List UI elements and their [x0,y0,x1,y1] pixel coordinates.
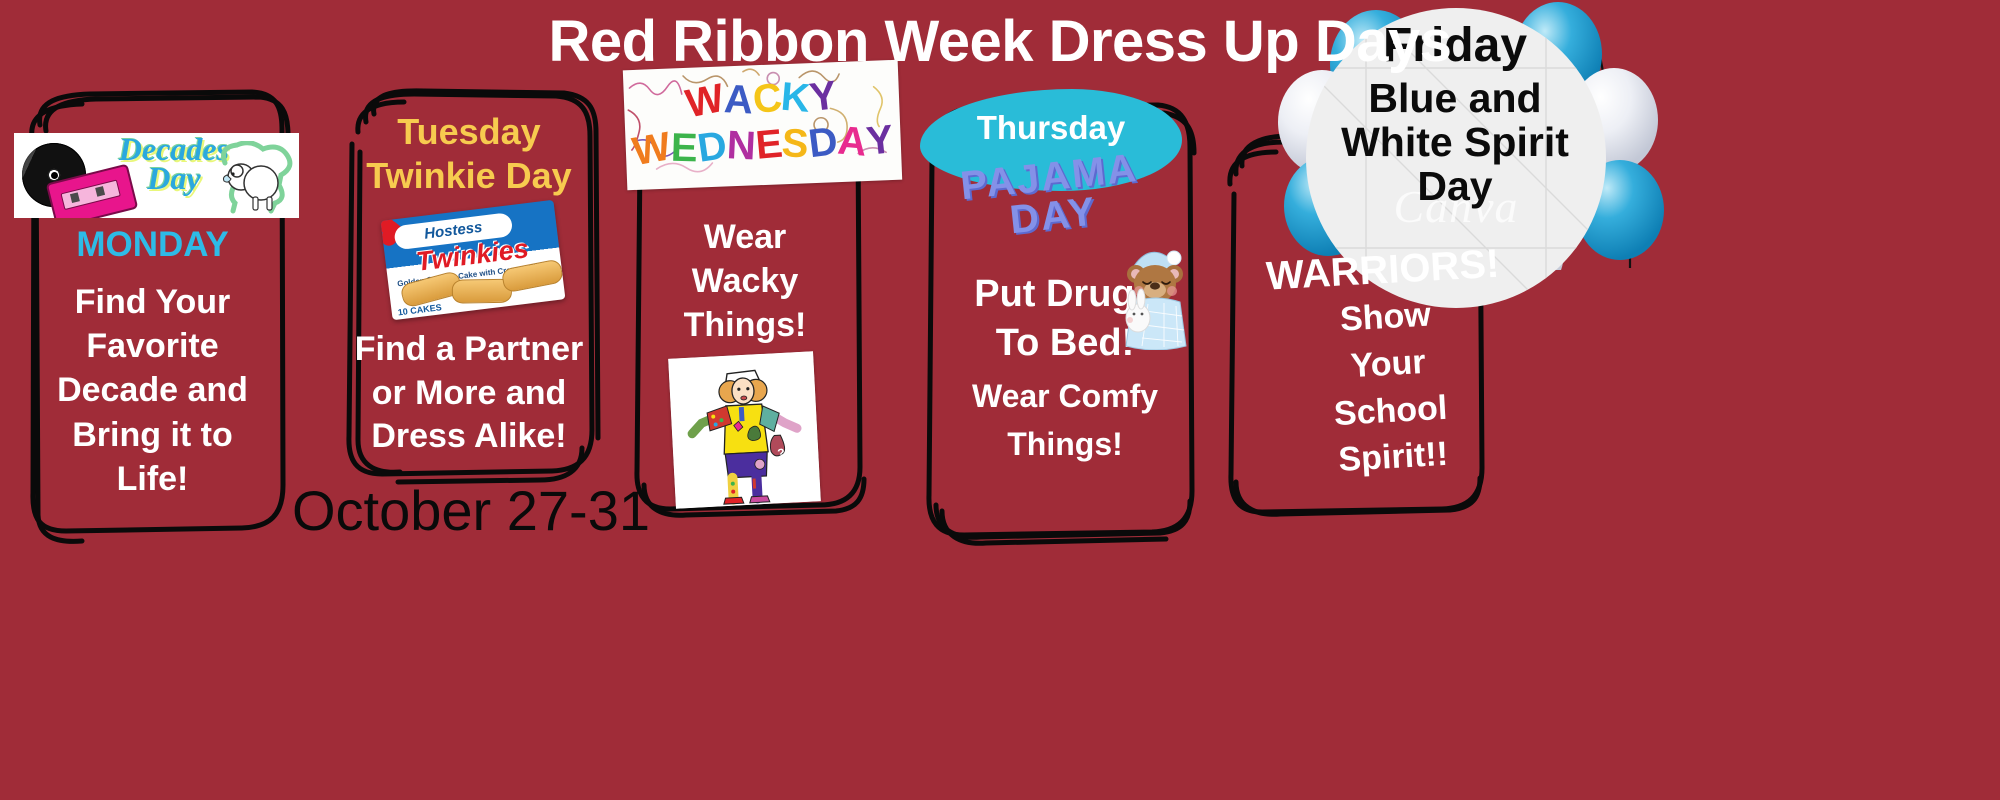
tuesday-heading-line: Tuesday [328,110,610,154]
day-card-tuesday: Tuesday Twinkie Day Hostess Twinkies Gol… [338,88,600,488]
friday-text-line: Day [1280,164,1630,208]
wednesday-body-line: Things! [625,303,865,347]
monday-body: Find Your Favorite Decade and Bring it t… [20,280,285,501]
wednesday-body-line: Wacky [625,259,865,303]
svg-text:?: ? [777,446,785,460]
twinkies-box-icon: Hostess Twinkies Golden Sponge Cake with… [381,200,566,320]
poster-canvas: Red Ribbon Week Dress Up Days Decades Da… [0,0,2000,800]
monday-body-line: Favorite [20,324,285,368]
tuesday-body-line: Find a Partner [326,328,612,372]
page-title: Red Ribbon Week Dress Up Days [0,8,2000,75]
day-label-monday: MONDAY [20,225,285,265]
day-label-thursday: Thursday [920,109,1182,147]
day-card-thursday: Thursday PAJAMA DAY [920,95,1195,550]
date-range-label: October 27-31 [292,478,650,543]
tuesday-heading-line: Twinkie Day [328,154,610,198]
tuesday-heading: Tuesday Twinkie Day [328,110,610,198]
friday-body: WARRIORS! Show Your School Spirit!! [1242,240,1534,487]
tuesday-body: Find a Partner or More and Dress Alike! [326,328,612,459]
monday-body-line: Find Your [20,280,285,324]
wacky-dressed-girl-icon: ? [668,351,821,508]
wacky-wednesday-sign: WACKY WEDNESDAY [623,60,902,190]
monday-body-line: Decade and [20,368,285,412]
sleeping-teddy-bear-icon [1108,240,1196,350]
wacky-sign-line2: WEDNESDAY [625,118,902,174]
day-card-friday: Canva Friday Blue and White Spirit Day W… [1228,130,1488,530]
wednesday-body-line: Wear [625,215,865,259]
friday-text-line: White Spirit [1280,120,1630,164]
monday-body-line: Life! [20,457,285,501]
friday-text-line: Blue and [1280,76,1630,120]
tuesday-body-line: or More and [326,372,612,416]
thursday-body-line: Wear Comfy [920,375,1210,418]
tuesday-body-line: Dress Alike! [326,415,612,459]
day-card-monday: Decades Day MONDAY Find Your Favorite De… [20,85,285,540]
decades-day-banner: Decades Day [14,133,299,218]
monday-body-line: Bring it to [20,413,285,457]
thursday-body-line: Things! [920,423,1210,466]
wednesday-body: Wear Wacky Things! [625,215,865,348]
day-card-wednesday: WACKY WEDNESDAY Wear Wacky Things! [630,95,860,525]
poodle-icon [217,141,295,215]
